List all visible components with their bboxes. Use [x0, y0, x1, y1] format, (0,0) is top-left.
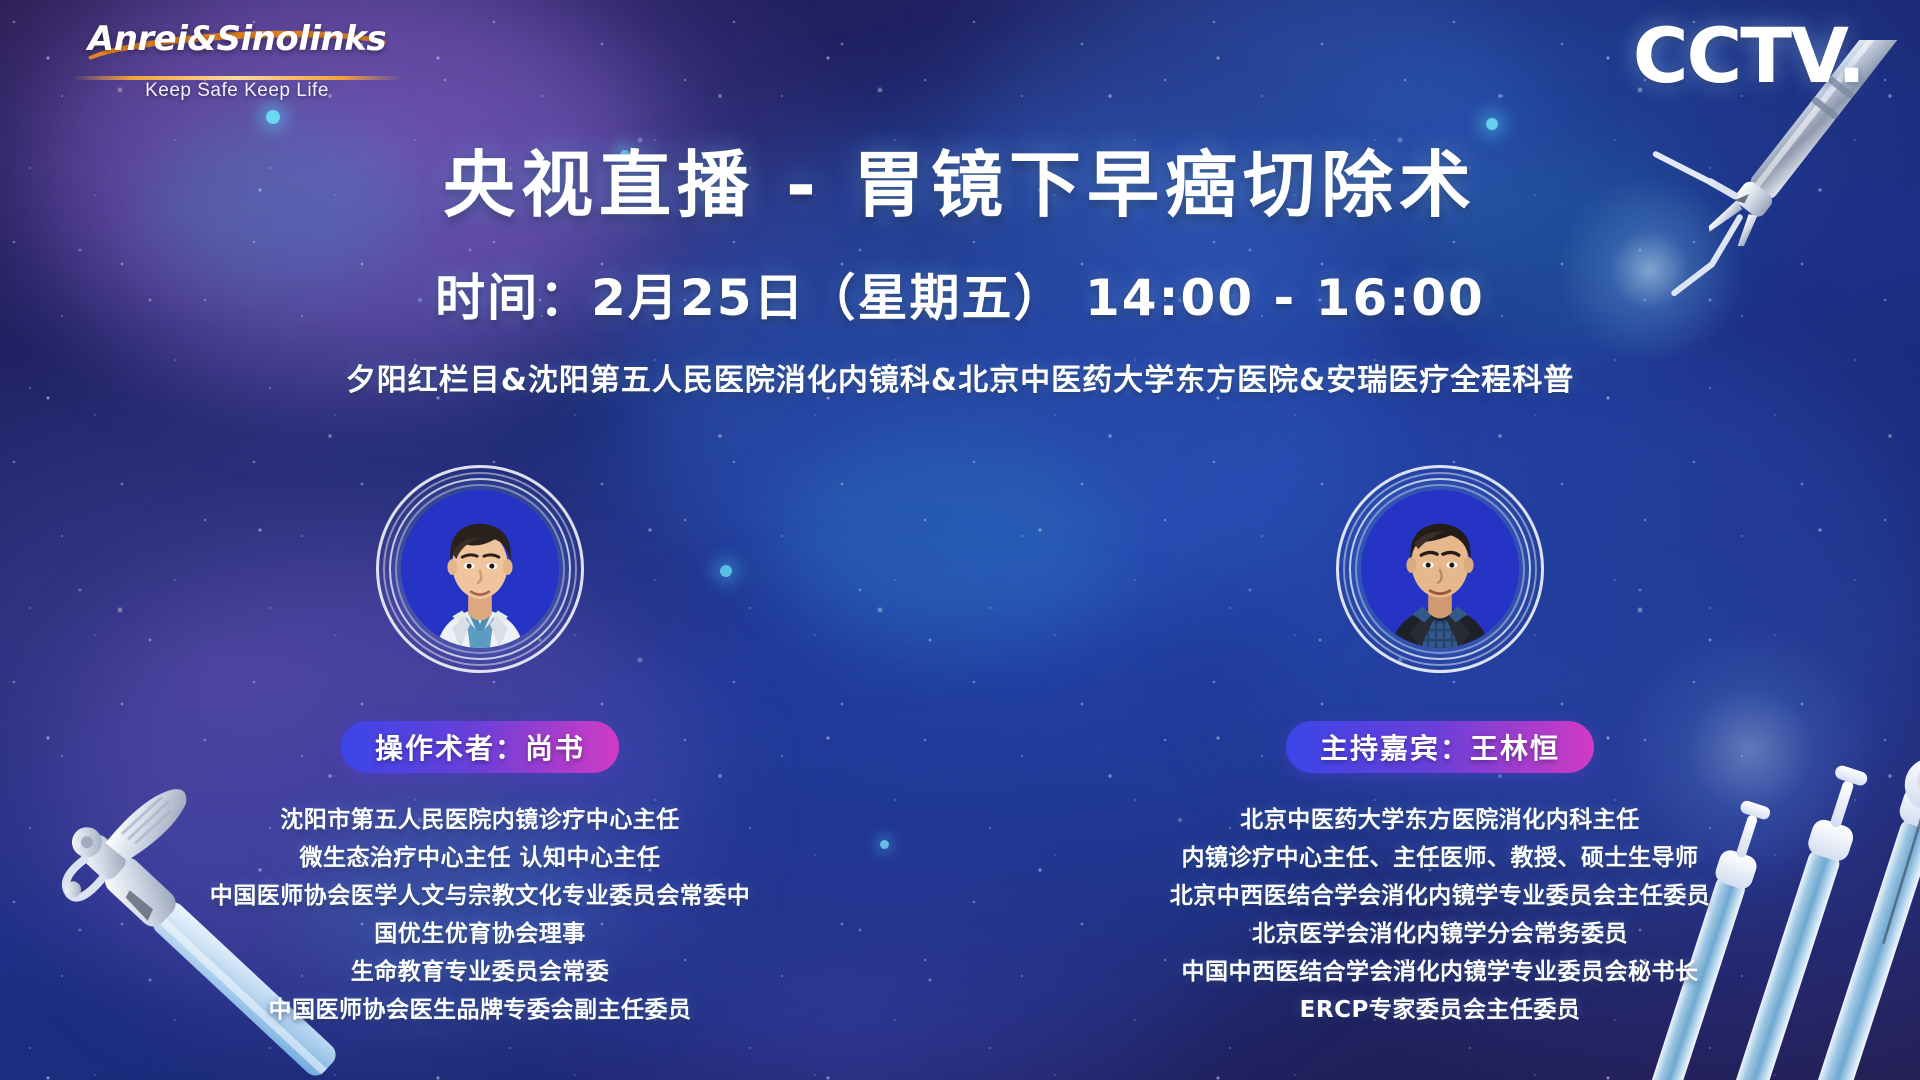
credential-line: 中国医师协会医生品牌专委会副主任委员 — [210, 991, 751, 1029]
company-tagline: Keep Safe Keep Life — [72, 80, 402, 102]
host-credentials: 北京中医药大学东方医院消化内科主任 内镜诊疗中心主任、主任医师、教授、硕士生导师… — [1170, 801, 1711, 1029]
host-name-badge: 主持嘉宾：王林恒 — [1286, 721, 1594, 773]
credential-line: 内镜诊疗中心主任、主任医师、教授、硕士生导师 — [1170, 839, 1711, 877]
cctv-logo: CCTV. — [1633, 18, 1864, 94]
avatar — [1336, 465, 1544, 673]
anrei-sinolinks-logo: Anrei&Sinolinks Keep Safe Keep Life — [72, 16, 402, 94]
host-portrait-photo — [1361, 490, 1519, 648]
page-title: 央视直播 - 胃镜下早癌切除术 — [0, 126, 1920, 231]
broadcast-time: 时间：2月25日（星期五） 14:00 - 16:00 — [0, 258, 1920, 330]
credential-line: ERCP专家委员会主任委员 — [1170, 991, 1711, 1029]
credential-line: 沈阳市第五人民医院内镜诊疗中心主任 — [210, 801, 751, 839]
operator-portrait-photo — [401, 490, 559, 648]
company-wordmark: Anrei&Sinolinks — [72, 16, 402, 62]
operator-credentials: 沈阳市第五人民医院内镜诊疗中心主任 微生态治疗中心主任 认知中心主任 中国医师协… — [210, 801, 751, 1029]
speaker-card-host: 主持嘉宾：王林恒 北京中医药大学东方医院消化内科主任 内镜诊疗中心主任、主任医师… — [960, 455, 1920, 1075]
credential-line: 中国中西医结合学会消化内镜学专业委员会秘书长 — [1170, 953, 1711, 991]
credential-line: 微生态治疗中心主任 认知中心主任 — [210, 839, 751, 877]
speaker-card-operator: 操作术者：尚书 沈阳市第五人民医院内镜诊疗中心主任 微生态治疗中心主任 认知中心… — [0, 455, 960, 1075]
credential-line: 生命教育专业委员会常委 — [210, 953, 751, 991]
star-glow-dot — [266, 110, 280, 124]
credential-line: 北京中西医结合学会消化内镜学专业委员会主任委员 — [1170, 877, 1711, 915]
avatar — [376, 465, 584, 673]
partner-organizations: 夕阳红栏目&沈阳第五人民医院消化内镜科&北京中医药大学东方医院&安瑞医疗全程科普 — [0, 355, 1920, 399]
credential-line: 中国医师协会医学人文与宗教文化专业委员会常委中 — [210, 877, 751, 915]
operator-name-badge: 操作术者：尚书 — [341, 721, 619, 773]
live-broadcast-poster: Anrei&Sinolinks Keep Safe Keep Life CCTV… — [0, 0, 1920, 1080]
speakers-section: 操作术者：尚书 沈阳市第五人民医院内镜诊疗中心主任 微生态治疗中心主任 认知中心… — [0, 455, 1920, 1075]
credential-line: 北京中医药大学东方医院消化内科主任 — [1170, 801, 1711, 839]
credential-line: 北京医学会消化内镜学分会常务委员 — [1170, 915, 1711, 953]
credential-line: 国优生优育协会理事 — [210, 915, 751, 953]
